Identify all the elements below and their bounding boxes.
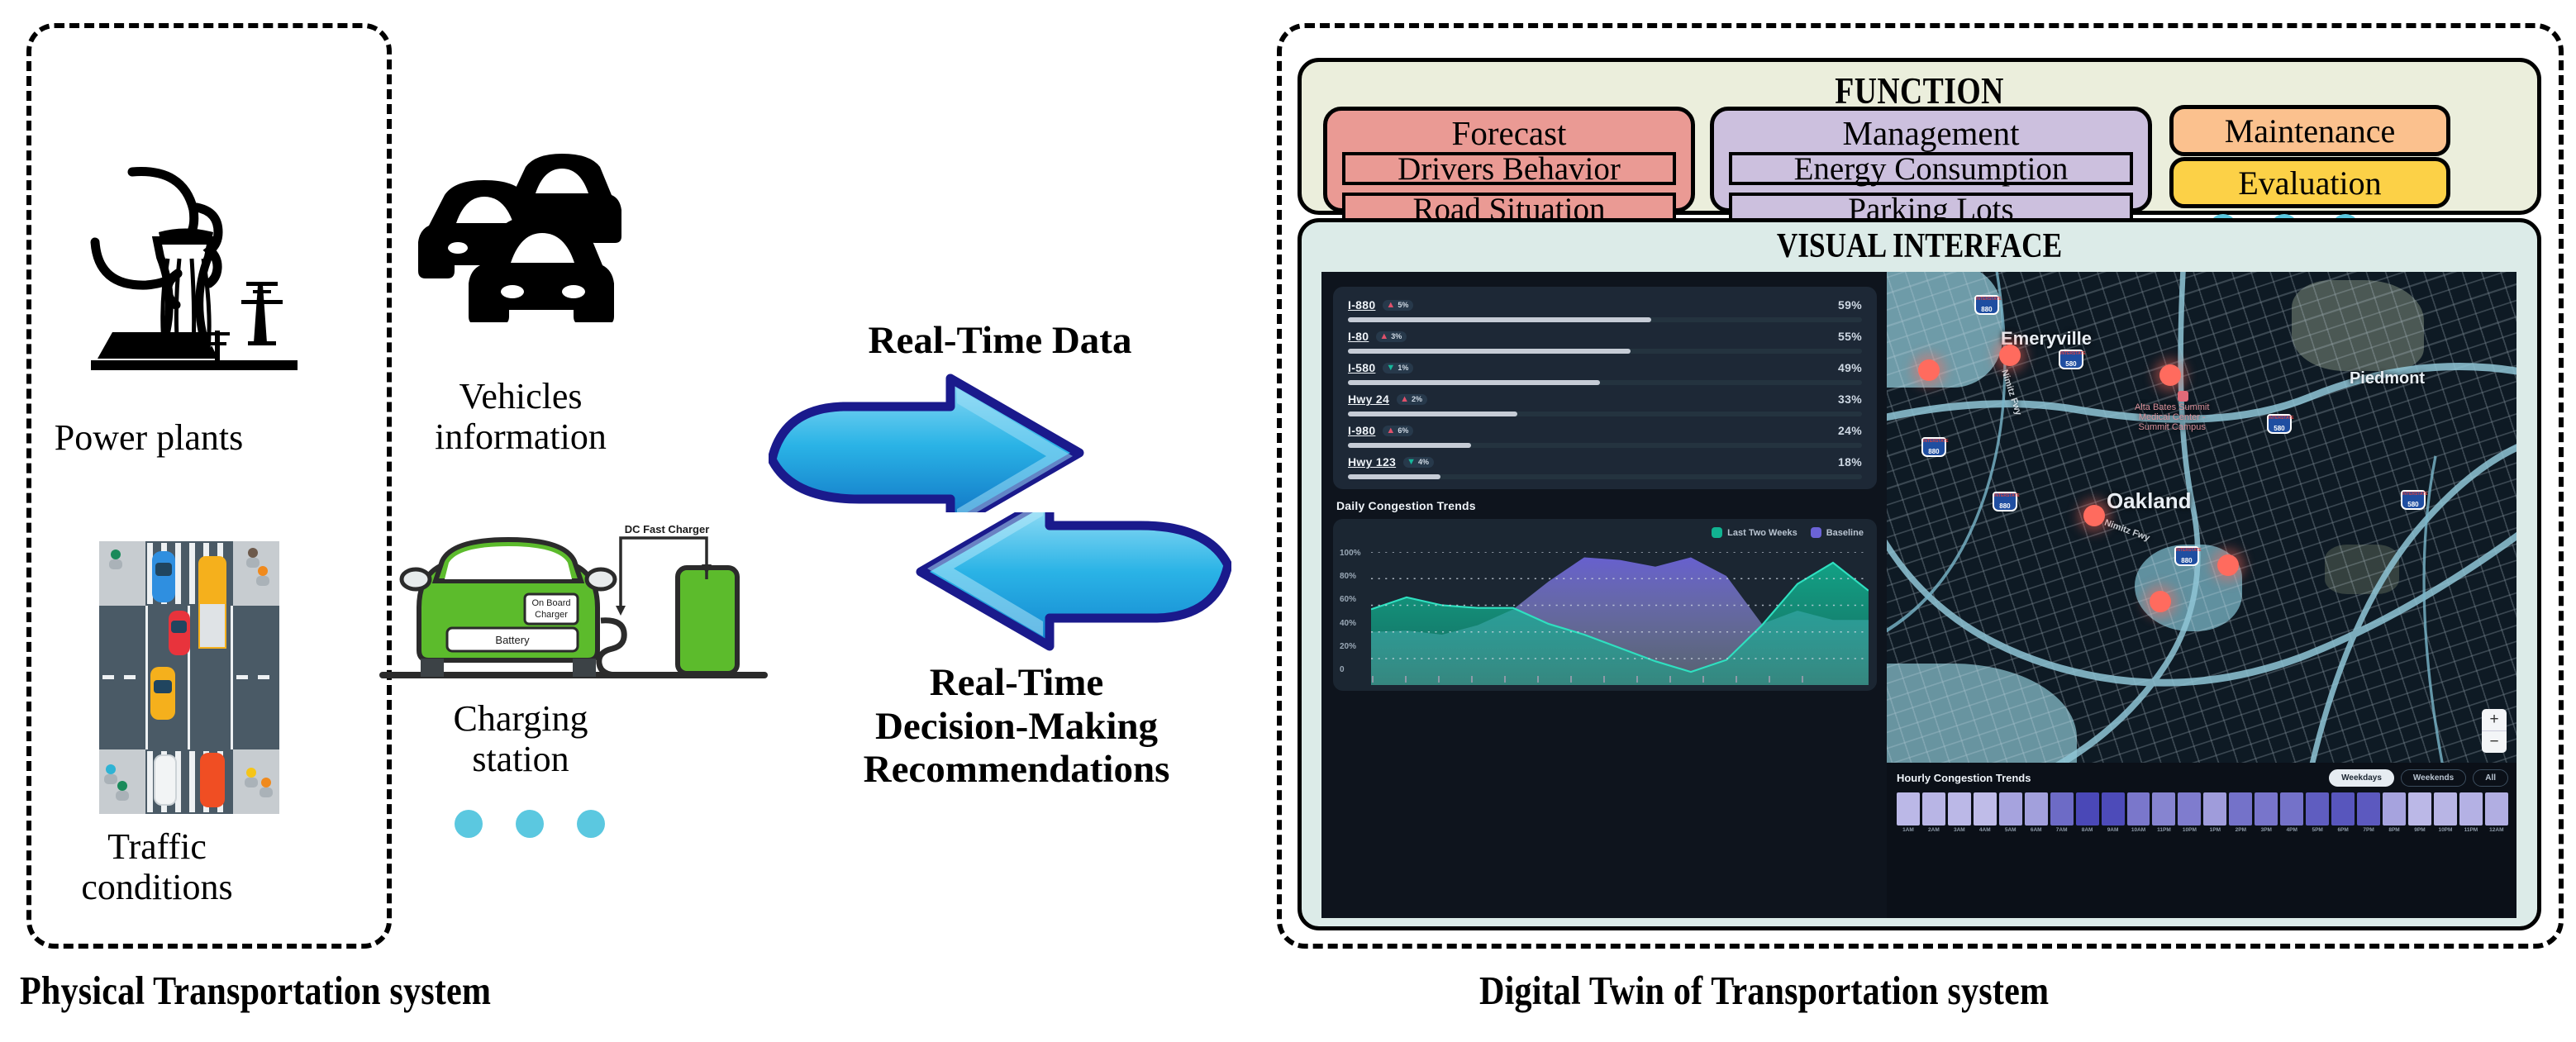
legend-item-baseline: Baseline: [1811, 527, 1864, 538]
road-name[interactable]: I-580: [1348, 361, 1375, 374]
hourly-bar-label: 2PM: [2229, 827, 2252, 833]
y-tick: 60%: [1340, 595, 1361, 604]
dot: [577, 810, 605, 838]
function-item-energy-consumption[interactable]: Energy Consumption: [1729, 152, 2133, 185]
hourly-bar-fill: [2178, 792, 2201, 826]
hourly-bar[interactable]: 12AM: [2485, 792, 2508, 833]
arrow-down-icon: ▼: [1407, 458, 1416, 467]
legend-label: Last Two Weeks: [1727, 528, 1797, 538]
hourly-bar-fill: [2357, 792, 2380, 826]
hourly-bar-fill: [2255, 792, 2278, 826]
change-badge: ▲ 6%: [1383, 426, 1413, 436]
hourly-bar-fill: [2306, 792, 2329, 826]
hourly-bar-label: 10PM: [2178, 827, 2201, 833]
congestion-bar-track: [1348, 380, 1862, 385]
daily-trends-plot: [1371, 552, 1869, 685]
svg-text:Battery: Battery: [495, 634, 530, 646]
road-name[interactable]: Hwy 123: [1348, 455, 1396, 469]
hourly-bar-label: 6AM: [2025, 827, 2048, 833]
hourly-bar[interactable]: 3PM: [2255, 792, 2278, 833]
change-value: 2%: [1412, 395, 1422, 403]
hourly-bar-fill: [1974, 792, 1997, 826]
congestion-bar-track: [1348, 443, 1862, 448]
hourly-bar[interactable]: 9AM: [2102, 792, 2125, 833]
hourly-bar-label: 10AM: [2127, 827, 2150, 833]
congestion-bar-fill: [1348, 317, 1651, 322]
y-tick: 40%: [1340, 619, 1361, 628]
hourly-bar-label: 9AM: [2102, 827, 2125, 833]
hourly-bar-label: 10PM: [2434, 827, 2457, 833]
congestion-bar-fill: [1348, 380, 1600, 385]
function-pill-maintenance[interactable]: Maintenance: [2169, 105, 2450, 156]
route-shield: INTERSTATE 580: [2401, 490, 2426, 510]
hourly-bar[interactable]: 11PM: [2459, 792, 2483, 833]
group-head-forecast: Forecast: [1327, 111, 1691, 150]
shield-number: 580: [2065, 361, 2076, 368]
route-shield: INTERSTATE 880: [1993, 492, 2017, 511]
hourly-bar-label: 4PM: [2280, 827, 2303, 833]
hourly-bar[interactable]: 10PM: [2434, 792, 2457, 833]
hourly-bar-label: 5PM: [2306, 827, 2329, 833]
function-group-forecast[interactable]: Forecast Drivers Behavior Road Situation: [1323, 107, 1695, 212]
svg-text:On Board: On Board: [531, 598, 570, 608]
change-value: 5%: [1398, 301, 1408, 309]
map-zoom-controls[interactable]: + −: [2482, 709, 2507, 753]
congestion-percent: 18%: [1838, 455, 1862, 469]
congestion-bar-fill: [1348, 412, 1517, 416]
traffic-intersection-icon: [99, 541, 279, 814]
arrow-up-icon: ▲: [1379, 332, 1388, 341]
shield-number: 580: [2407, 502, 2418, 508]
svg-text:Charger: Charger: [535, 610, 568, 620]
interstate-text: INTERSTATE: [2176, 549, 2197, 553]
congestion-hotspot[interactable]: [2159, 364, 2181, 386]
hourly-bar[interactable]: 6PM: [2331, 792, 2355, 833]
traffic-conditions-label: Traffic conditions: [33, 826, 281, 908]
charging-station-label: Charging station: [397, 698, 645, 780]
y-axis-labels: 100% 80% 60% 40% 20% 0: [1340, 549, 1361, 674]
dashboard-screen[interactable]: I-880 ▲ 5% 59%: [1321, 272, 2516, 918]
hourly-bar-label: 4AM: [1974, 827, 1997, 833]
route-shield: INTERSTATE 580: [2267, 414, 2292, 434]
hourly-bar-fill: [2485, 792, 2508, 826]
hourly-bar-fill: [2229, 792, 2252, 826]
hourly-bar-label: 11PM: [2152, 827, 2175, 833]
congestion-bar-fill: [1348, 474, 1440, 479]
vehicles-information-label: Vehicles information: [397, 376, 645, 458]
hospital-icon: [2178, 391, 2188, 402]
visual-interface-title: VISUAL INTERFACE: [1401, 226, 2439, 266]
hourly-bar-fill: [1948, 792, 1971, 826]
shield-number: 880: [1981, 307, 1992, 313]
interstate-text: INTERSTATE: [1923, 440, 1945, 444]
hourly-bar-fill: [1922, 792, 1945, 826]
hourly-bar-label: 5AM: [1999, 827, 2022, 833]
legend-swatch: [1811, 527, 1821, 538]
hourly-bar[interactable]: 1AM: [1897, 792, 1920, 833]
hourly-bar[interactable]: 3AM: [1948, 792, 1971, 833]
congestion-bar-track: [1348, 317, 1862, 322]
road-name[interactable]: Hwy 24: [1348, 393, 1389, 406]
filter-weekdays[interactable]: Weekdays: [2329, 769, 2394, 787]
hourly-bar-fill: [2102, 792, 2125, 826]
hourly-bar[interactable]: 9PM: [2408, 792, 2431, 833]
change-badge: ▲ 5%: [1383, 300, 1413, 311]
hourly-bar[interactable]: 4AM: [1974, 792, 1997, 833]
hourly-bar[interactable]: 2PM: [2229, 792, 2252, 833]
congestion-row[interactable]: Hwy 24 ▲ 2% 33%: [1348, 393, 1862, 416]
hourly-bar-fill: [2459, 792, 2483, 826]
group-head-management: Management: [1714, 111, 2148, 150]
zoom-out-button[interactable]: −: [2482, 730, 2507, 753]
x-axis-ticks: [1371, 676, 1834, 686]
hourly-bar[interactable]: 10AM: [2127, 792, 2150, 833]
hourly-bar[interactable]: 5AM: [1999, 792, 2022, 833]
power-plant-icon: [50, 79, 306, 351]
hourly-bar[interactable]: 5PM: [2306, 792, 2329, 833]
route-shield: INTERSTATE 880: [1921, 437, 1946, 457]
arrow-up-icon: ▲: [1400, 395, 1409, 404]
hourly-bar[interactable]: 6AM: [2025, 792, 2048, 833]
congestion-hotspot[interactable]: [1918, 359, 1940, 381]
hourly-header: Hourly Congestion Trends Weekdays Weeken…: [1897, 769, 2508, 787]
hourly-bar-fill: [2383, 792, 2406, 826]
hourly-congestion-section: Hourly Congestion Trends Weekdays Weeken…: [1887, 763, 2516, 918]
congestion-percent: 24%: [1838, 424, 1862, 437]
hourly-bar-fill: [2434, 792, 2457, 826]
arrow-up-icon: ▲: [1386, 426, 1395, 435]
hourly-bar-label: 9PM: [2408, 827, 2431, 833]
hourly-bar-fill: [2050, 792, 2074, 826]
decision-making-label: Real-Time Decision-Making Recommendation…: [793, 661, 1240, 792]
hourly-bar-label: 1PM: [2203, 827, 2226, 833]
congestion-row[interactable]: I-580 ▼ 1% 49%: [1348, 361, 1862, 385]
congestion-bar-track: [1348, 474, 1862, 479]
interstate-text: INTERSTATE: [2269, 416, 2290, 421]
hourly-bar[interactable]: 7PM: [2357, 792, 2380, 833]
legend-swatch: [1712, 527, 1722, 538]
dot: [455, 810, 483, 838]
filter-weekends[interactable]: Weekends: [2401, 769, 2466, 787]
interstate-text: INTERSTATE: [2402, 492, 2424, 497]
filter-all[interactable]: All: [2473, 769, 2508, 787]
daily-trends-chart: Last Two Weeks Baseline 100% 80% 60% 40%…: [1333, 519, 1877, 691]
hourly-bar-label: 2AM: [1922, 827, 1945, 833]
congestion-row[interactable]: I-980 ▲ 6% 24%: [1348, 424, 1862, 448]
congestion-hotspot[interactable]: [2150, 591, 2171, 612]
change-value: 4%: [1418, 458, 1429, 466]
arrow-up-icon: ▲: [1386, 301, 1395, 310]
change-badge: ▼ 1%: [1383, 363, 1413, 374]
y-tick: 100%: [1340, 549, 1361, 558]
function-panel: FUNCTION Forecast Drivers Behavior Road …: [1298, 58, 2541, 215]
y-tick: 20%: [1340, 642, 1361, 651]
y-tick: 0: [1340, 665, 1361, 674]
hourly-title: Hourly Congestion Trends: [1897, 772, 2031, 784]
hourly-bar-fill: [2152, 792, 2175, 826]
hourly-bar-fill: [1999, 792, 2022, 826]
power-plants-label: Power plants: [33, 417, 264, 458]
interstate-text: INTERSTATE: [1976, 297, 1997, 302]
legend-label: Baseline: [1826, 528, 1864, 538]
congestion-list-card: I-880 ▲ 5% 59%: [1333, 287, 1877, 489]
congestion-hotspot[interactable]: [2083, 505, 2105, 526]
change-badge: ▲ 2%: [1397, 394, 1427, 405]
hourly-bar[interactable]: 8AM: [2076, 792, 2099, 833]
hourly-filter-group[interactable]: Weekdays Weekends All: [2329, 769, 2508, 787]
congestion-bar-track: [1348, 349, 1862, 354]
function-pill-evaluation[interactable]: Evaluation: [2169, 157, 2450, 208]
change-value: 6%: [1398, 426, 1408, 435]
dashboard-left-column: I-880 ▲ 5% 59%: [1321, 272, 1887, 918]
congestion-percent: 33%: [1838, 393, 1862, 406]
dashboard-right-column: Emeryville Piedmont Oakland Alta Bates S…: [1887, 272, 2516, 918]
hourly-bar-fill: [2203, 792, 2226, 826]
arrow-left-3d: [769, 512, 1231, 653]
map-poi-label: Alta Bates Summit Medical Center - Summi…: [2135, 402, 2209, 432]
hourly-bar-label: 6PM: [2331, 827, 2355, 833]
congestion-row[interactable]: I-880 ▲ 5% 59%: [1348, 298, 1862, 322]
shield-number: 880: [1928, 449, 1939, 455]
hourly-bar[interactable]: 8PM: [2383, 792, 2406, 833]
hourly-bar-label: 12AM: [2485, 827, 2508, 833]
hourly-bar-label: 11PM: [2459, 827, 2483, 833]
hourly-bar-label: 8PM: [2383, 827, 2406, 833]
route-shield: INTERSTATE 580: [2059, 350, 2083, 369]
dot: [516, 810, 544, 838]
interstate-text: INTERSTATE: [2060, 352, 2082, 356]
hourly-bar-fill: [2025, 792, 2048, 826]
function-item-drivers-behavior[interactable]: Drivers Behavior: [1342, 152, 1676, 185]
hourly-bar[interactable]: 10PM: [2178, 792, 2201, 833]
map-label-oakland: Oakland: [2107, 488, 2192, 514]
left-caption: Physical Transportation system: [20, 967, 491, 1014]
chart-legend: Last Two Weeks Baseline: [1712, 527, 1864, 538]
shield-number: 880: [1999, 503, 2010, 510]
hourly-bars: 1AM2AM3AM4AM5AM6AM7AM8AM9AM10AM11PM10PM1…: [1897, 792, 2508, 833]
hourly-bar[interactable]: 11PM: [2152, 792, 2175, 833]
hourly-bar[interactable]: 1PM: [2203, 792, 2226, 833]
congestion-row[interactable]: Hwy 123 ▼ 4% 18%: [1348, 455, 1862, 479]
hourly-bar-fill: [2127, 792, 2150, 826]
svg-text:DC Fast Charger: DC Fast Charger: [625, 523, 710, 535]
shield-number: 580: [2274, 426, 2284, 432]
shield-number: 880: [2181, 558, 2192, 564]
route-shield: INTERSTATE 880: [2174, 546, 2199, 566]
map-label-piedmont: Piedmont: [2350, 369, 2425, 388]
hourly-bar-label: 3AM: [1948, 827, 1971, 833]
vehicles-icon: [397, 140, 636, 322]
hourly-bar[interactable]: 2AM: [1922, 792, 1945, 833]
hourly-bar-fill: [2408, 792, 2431, 826]
congestion-bar-fill: [1348, 443, 1471, 448]
congestion-percent: 59%: [1838, 298, 1862, 312]
hourly-bar-label: 8AM: [2076, 827, 2099, 833]
road-name[interactable]: I-80: [1348, 330, 1369, 343]
left-more-dots: [455, 810, 605, 838]
hourly-bar-fill: [2331, 792, 2355, 826]
daily-trends-title: Daily Congestion Trends: [1336, 499, 1877, 512]
congestion-row[interactable]: I-80 ▲ 3% 55%: [1348, 330, 1862, 354]
congestion-bar-track: [1348, 412, 1862, 416]
interstate-text: INTERSTATE: [1994, 494, 2016, 498]
hourly-bar-label: 7AM: [2050, 827, 2074, 833]
congestion-hotspot[interactable]: [1999, 345, 2021, 366]
road-name[interactable]: I-880: [1348, 298, 1375, 312]
real-time-data-label: Real-Time Data: [818, 319, 1182, 363]
change-value: 3%: [1391, 332, 1402, 340]
right-caption: Digital Twin of Transportation system: [1479, 967, 2049, 1014]
congestion-percent: 49%: [1838, 361, 1862, 374]
arrow-down-icon: ▼: [1386, 364, 1395, 373]
change-badge: ▲ 3%: [1376, 331, 1407, 342]
hourly-bar-label: 7PM: [2357, 827, 2380, 833]
hourly-bar[interactable]: 4PM: [2280, 792, 2303, 833]
change-value: 1%: [1398, 364, 1408, 372]
congestion-percent: 55%: [1838, 330, 1862, 343]
power-plant-base-icon: [91, 331, 298, 397]
hourly-bar-fill: [2076, 792, 2099, 826]
arrow-right-3d: [769, 372, 1231, 512]
congestion-hotspot[interactable]: [2217, 554, 2239, 576]
zoom-in-button[interactable]: +: [2482, 709, 2507, 730]
congestion-map[interactable]: Emeryville Piedmont Oakland Alta Bates S…: [1887, 272, 2516, 763]
hourly-bar-label: 1AM: [1897, 827, 1920, 833]
hourly-bar-label: 3PM: [2255, 827, 2278, 833]
function-group-management[interactable]: Management Energy Consumption Parking Lo…: [1710, 107, 2152, 212]
road-name[interactable]: I-980: [1348, 424, 1375, 437]
route-shield: INTERSTATE 880: [1974, 295, 1999, 315]
ev-charging-icon: DC Fast Charger Battery On Board Charger: [376, 508, 793, 692]
legend-item-last-two-weeks: Last Two Weeks: [1712, 527, 1797, 538]
hourly-bar[interactable]: 7AM: [2050, 792, 2074, 833]
hourly-bar-fill: [1897, 792, 1920, 826]
visual-interface-panel: VISUAL INTERFACE I-880 ▲ 5% 59%: [1298, 218, 2541, 930]
y-tick: 80%: [1340, 572, 1361, 581]
change-badge: ▼ 4%: [1403, 457, 1434, 468]
hourly-bar-fill: [2280, 792, 2303, 826]
congestion-bar-fill: [1348, 349, 1631, 354]
